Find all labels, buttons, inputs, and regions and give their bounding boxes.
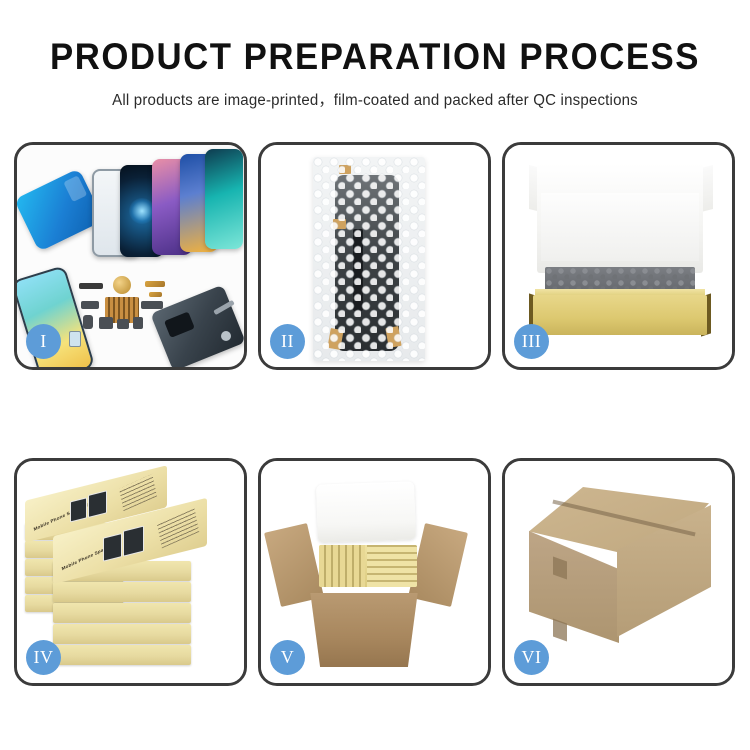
- carton-tape-lower: [553, 618, 567, 641]
- part-flex-cable-right: [141, 301, 163, 309]
- foam-cooler-lid: [316, 481, 416, 542]
- step-badge-1: I: [26, 324, 61, 359]
- stacked-box: [53, 603, 191, 623]
- part-camera-module: [83, 315, 93, 329]
- header: PRODUCT PREPARATION PROCESS All products…: [0, 0, 750, 110]
- part-sensor: [69, 331, 81, 347]
- step-card-1[interactable]: I: [14, 142, 247, 370]
- box-label-phone-image: [70, 497, 87, 522]
- step-badge-6: VI: [514, 640, 549, 675]
- box-label-specs: [119, 474, 157, 511]
- step-badge-4: IV: [26, 640, 61, 675]
- box-label-phone-image: [123, 526, 144, 557]
- step-card-5[interactable]: V: [258, 458, 491, 686]
- step-card-3[interactable]: III: [502, 142, 735, 370]
- product-preparation-infographic: PRODUCT PREPARATION PROCESS All products…: [0, 0, 750, 750]
- step-card-6[interactable]: VI: [502, 458, 735, 686]
- step-badge-2: II: [270, 324, 305, 359]
- box-label-phone-image: [103, 533, 122, 562]
- stacked-box: [53, 582, 191, 602]
- step-badge-5: V: [270, 640, 305, 675]
- part-speaker: [79, 283, 103, 289]
- part-vibration-motor: [113, 276, 131, 294]
- bubble-wrap-package: [313, 157, 425, 361]
- step-card-2[interactable]: II: [258, 142, 491, 370]
- phone-back-housing: [150, 285, 244, 367]
- page-subtitle: All products are image-printed，film-coat…: [11, 88, 739, 110]
- stacked-box: [53, 645, 191, 665]
- phone-display-teal: [205, 149, 243, 249]
- packed-yellow-boxes: [319, 545, 417, 587]
- stacked-box: [53, 624, 191, 644]
- step-card-4[interactable]: Mobile Phone Spare Parts Mobile Phone Sp…: [14, 458, 247, 686]
- bubble-texture: [313, 157, 425, 361]
- part-button-set: [133, 317, 143, 329]
- steps-grid: I II: [14, 142, 736, 686]
- box-label-specs: [157, 507, 199, 549]
- carton-body: [303, 593, 425, 667]
- phone-screen-protector: [17, 168, 104, 252]
- part-flex-connector: [145, 281, 165, 287]
- step-badge-3: III: [514, 324, 549, 359]
- box-label-phone-image: [88, 490, 107, 518]
- part-shield-can: [117, 319, 129, 329]
- page-title: PRODUCT PREPARATION PROCESS: [23, 38, 728, 75]
- part-battery-connector: [99, 317, 113, 329]
- part-flex-cable-left: [81, 301, 99, 309]
- box-foam-sheet: [541, 193, 699, 261]
- box-front-panel: [533, 295, 707, 335]
- part-screw: [221, 331, 231, 341]
- part-sim-tray: [149, 292, 162, 297]
